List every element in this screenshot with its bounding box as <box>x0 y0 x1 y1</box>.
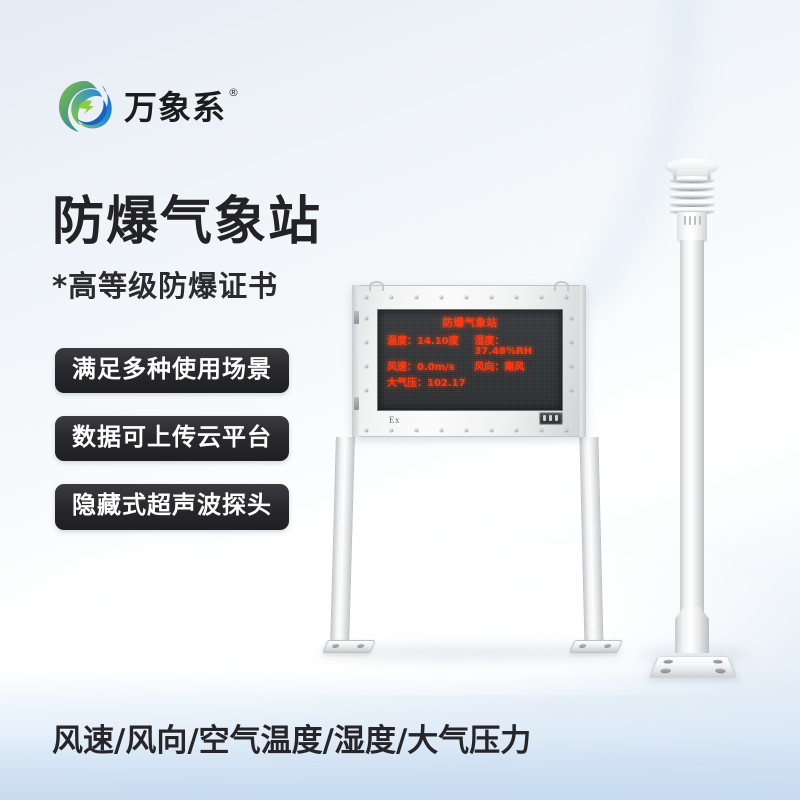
feature-badge: 隐藏式超声波探头 <box>55 484 289 529</box>
mounting-pole-icon <box>680 240 704 640</box>
sensor-arm-right <box>707 168 711 180</box>
foot-plate-left <box>322 640 375 653</box>
louver-stack-icon <box>670 176 714 214</box>
led-display-screen: 防爆气象站 温度：14.10度 湿度：37.48%RH 风速：0.0m/s 风向… <box>377 309 563 411</box>
sensor-arm-left <box>673 168 677 180</box>
pole-flare <box>675 607 709 653</box>
enclosure-left-edge <box>352 285 359 437</box>
hinge-top <box>354 311 359 324</box>
led-row: 风速：0.0m/s 风向：南风 <box>387 363 556 373</box>
weather-sensor-mast <box>655 152 729 662</box>
explosion-proof-display-board: 防爆气象站 温度：14.10度 湿度：37.48%RH 风速：0.0m/s 风向… <box>352 285 586 437</box>
nameplate-label-icon <box>539 412 563 425</box>
led-humidity: 湿度：37.48%RH <box>474 337 556 357</box>
ex-marking-label: Ex <box>389 415 400 425</box>
brand-name: 万象系 ® <box>124 91 226 124</box>
page-subtitle: *高等级防爆证书 <box>52 272 278 301</box>
foot-plate-right <box>569 640 622 653</box>
bolt-row-top <box>352 296 586 300</box>
flange-base-plate-icon <box>649 657 737 678</box>
led-row: 大气压：102.17 <box>387 379 556 389</box>
lifting-lug-right <box>554 281 569 291</box>
lifting-lug-left <box>369 281 384 291</box>
feature-badge: 满足多种使用场景 <box>55 348 289 393</box>
led-screen-title: 防爆气象站 <box>378 318 562 329</box>
feature-tagline: 风速/风向/空气温度/湿度/大气压力 <box>52 726 531 757</box>
product-poster: 万象系 ® 防爆气象站 *高等级防爆证书 满足多种使用场景 数据可上传云平台 隐… <box>0 0 800 800</box>
support-leg-right <box>579 437 603 647</box>
globe-swirl-logo-icon <box>56 78 114 136</box>
feature-badge-list: 满足多种使用场景 数据可上传云平台 隐藏式超声波探头 <box>55 348 289 530</box>
brand-logo: 万象系 ® <box>56 78 226 136</box>
support-leg-left <box>330 437 355 647</box>
led-readout-grid: 温度：14.10度 湿度：37.48%RH 风速：0.0m/s 风向：南风 大气… <box>387 337 556 395</box>
led-temperature: 温度：14.10度 <box>387 337 474 357</box>
led-empty <box>474 379 556 389</box>
bolt-row-bottom <box>352 429 586 433</box>
led-wind-speed: 风速：0.0m/s <box>387 363 474 373</box>
feature-badge: 数据可上传云平台 <box>55 416 289 461</box>
led-air-pressure: 大气压：102.17 <box>387 379 474 389</box>
led-wind-direction: 风向：南风 <box>474 363 556 373</box>
hinge-bottom <box>354 397 359 410</box>
trademark-symbol: ® <box>228 87 240 98</box>
page-title: 防爆气象站 <box>52 196 322 248</box>
led-row: 温度：14.10度 湿度：37.48%RH <box>387 337 556 357</box>
enclosure-right-edge <box>580 285 586 437</box>
sensor-body <box>677 212 707 242</box>
brand-name-text: 万象系 <box>124 88 226 127</box>
